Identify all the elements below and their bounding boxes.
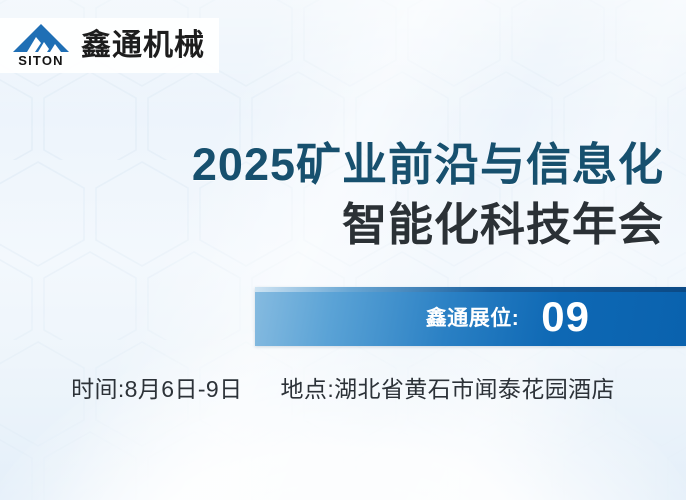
booth-number: 09 (541, 296, 590, 338)
bottom-glow-arc (0, 320, 686, 500)
event-venue: 地点:湖北省黄石市闻泰花园酒店 (281, 370, 615, 404)
brand-chinese-name: 鑫通机械 (81, 31, 205, 61)
siton-mountain-icon: SITON (10, 23, 72, 68)
headline-line-1: 2025矿业前沿与信息化 (0, 140, 664, 190)
brand-logo: SITON 鑫通机械 (0, 18, 219, 73)
poster-headline: 2025矿业前沿与信息化 智能化科技年会 (0, 140, 664, 251)
event-info-row: 时间:8月6日-9日 地点:湖北省黄石市闻泰花园酒店 (0, 370, 686, 404)
headline-line-2: 智能化科技年会 (0, 200, 664, 250)
booth-label: 鑫通展位: (426, 302, 520, 332)
siton-wordmark: SITON (18, 54, 64, 67)
exhibition-poster: SITON 鑫通机械 2025矿业前沿与信息化 智能化科技年会 鑫通展位: 09… (0, 0, 686, 500)
event-date: 时间:8月6日-9日 (71, 370, 242, 404)
booth-number-banner: 鑫通展位: 09 (255, 287, 686, 346)
